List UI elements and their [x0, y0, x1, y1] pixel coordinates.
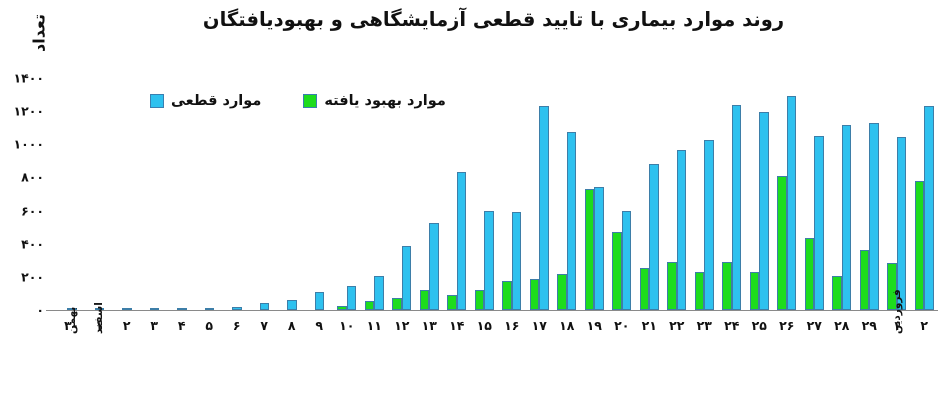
bar-recovered[interactable] [502, 281, 512, 310]
bar-recovered[interactable] [612, 232, 622, 310]
x-tick-label: ۲۵ [752, 318, 767, 333]
bar-confirmed[interactable] [205, 308, 215, 310]
bar-confirmed[interactable] [512, 212, 522, 310]
bar-confirmed[interactable] [677, 150, 687, 310]
x-tick-label: ۱۸ [559, 318, 574, 333]
bar-recovered[interactable] [392, 298, 402, 310]
bar-confirmed[interactable] [594, 187, 604, 310]
y-tick-label: ۴۰۰ [0, 236, 44, 251]
bar-confirmed[interactable] [622, 211, 632, 310]
bar-confirmed[interactable] [260, 303, 270, 310]
bar-confirmed[interactable] [759, 112, 769, 310]
y-tick-label: ۲۰۰ [0, 269, 44, 284]
bar-confirmed[interactable] [567, 132, 577, 310]
y-axis-tick-labels: ۱۴۰۰۱۲۰۰۱۰۰۰۸۰۰۶۰۰۴۰۰۲۰۰۰ [0, 0, 58, 415]
bar-recovered[interactable] [475, 290, 485, 310]
bar-confirmed[interactable] [287, 300, 297, 310]
bar-group [168, 78, 196, 310]
y-tick-label: ۱۲۰۰ [0, 104, 44, 119]
bar-group [636, 78, 664, 310]
bar-recovered[interactable] [832, 276, 842, 310]
bar-confirmed[interactable] [897, 137, 907, 310]
bar-confirmed[interactable] [122, 308, 132, 310]
x-month-label: بهمن [66, 307, 78, 334]
x-tick-label: ۱۳ [422, 318, 437, 333]
bar-confirmed[interactable] [869, 123, 879, 310]
bar-confirmed[interactable] [924, 106, 934, 310]
bar-recovered[interactable] [585, 189, 595, 310]
bar-group [883, 78, 911, 310]
bar-confirmed[interactable] [539, 106, 549, 310]
x-tick-label: ۷ [260, 318, 268, 333]
bar-recovered[interactable] [777, 176, 787, 310]
x-tick-label: ۲۴ [724, 318, 739, 333]
y-tick-label: ۰ [0, 303, 44, 318]
bar-recovered[interactable] [557, 274, 567, 310]
bar-group [58, 78, 86, 310]
y-tick-label: ۸۰۰ [0, 170, 44, 185]
bar-confirmed[interactable] [347, 286, 357, 310]
bar-group [828, 78, 856, 310]
bar-group [388, 78, 416, 310]
bar-recovered[interactable] [530, 279, 540, 310]
bar-confirmed[interactable] [649, 164, 659, 310]
bar-recovered[interactable] [337, 306, 347, 310]
bar-recovered[interactable] [447, 295, 457, 310]
bar-group [416, 78, 444, 310]
bar-group [251, 78, 279, 310]
bar-group [86, 78, 114, 310]
bar-group [691, 78, 719, 310]
bar-recovered[interactable] [667, 262, 677, 310]
x-tick-label: ۱۵ [477, 318, 492, 333]
bar-confirmed[interactable] [402, 246, 412, 310]
bar-confirmed[interactable] [484, 211, 494, 310]
bar-confirmed[interactable] [814, 136, 824, 310]
x-tick-label: ۱۶ [504, 318, 519, 333]
bar-confirmed[interactable] [429, 223, 439, 310]
bar-group [223, 78, 251, 310]
bar-confirmed[interactable] [232, 307, 242, 310]
bar-group [471, 78, 499, 310]
bar-group [856, 78, 884, 310]
bar-group [581, 78, 609, 310]
x-tick-label: ۲۳ [697, 318, 712, 333]
bar-group [801, 78, 829, 310]
x-tick-label: ۵ [205, 318, 213, 333]
bar-confirmed[interactable] [787, 96, 797, 310]
bar-group [498, 78, 526, 310]
bar-group [663, 78, 691, 310]
bar-group [746, 78, 774, 310]
x-tick-label: ۲۹ [862, 318, 877, 333]
x-tick-label: ۱۰ [339, 318, 354, 333]
bar-recovered[interactable] [750, 272, 760, 310]
x-tick-label: ۱۴ [449, 318, 464, 333]
x-month-label: فروردین [891, 289, 903, 334]
bar-confirmed[interactable] [374, 276, 384, 310]
bar-group [113, 78, 141, 310]
x-tick-label: ۲ [920, 318, 928, 333]
x-tick-label: ۱۱ [367, 318, 382, 333]
bar-confirmed[interactable] [315, 292, 325, 310]
x-tick-label: ۲۲ [669, 318, 684, 333]
chart-root: روند موارد بیماری با تایید قطعی آزمایشگا… [0, 0, 947, 415]
plot-area [58, 78, 938, 310]
bar-group [773, 78, 801, 310]
bar-confirmed[interactable] [704, 140, 714, 310]
bar-recovered[interactable] [695, 272, 705, 310]
x-tick-label: ۴ [178, 318, 186, 333]
bar-confirmed[interactable] [150, 308, 160, 310]
bar-recovered[interactable] [420, 290, 430, 310]
x-tick-label: ۱۷ [532, 318, 547, 333]
x-axis-month-labels: بهمناسفندفروردین [58, 334, 938, 404]
bar-confirmed[interactable] [732, 105, 742, 310]
bar-recovered[interactable] [640, 268, 650, 310]
bar-group [278, 78, 306, 310]
x-tick-label: ۲۸ [834, 318, 849, 333]
y-tick-label: ۱۰۰۰ [0, 137, 44, 152]
bar-recovered[interactable] [860, 250, 870, 310]
x-tick-label: ۲۷ [807, 318, 822, 333]
bar-group [718, 78, 746, 310]
bar-confirmed[interactable] [842, 125, 852, 310]
bar-confirmed[interactable] [457, 172, 467, 310]
chart-title: روند موارد بیماری با تایید قطعی آزمایشگا… [0, 8, 947, 31]
bar-group [196, 78, 224, 310]
x-tick-label: ۲۶ [779, 318, 794, 333]
x-month-label: اسفند [93, 302, 105, 334]
bar-group [553, 78, 581, 310]
x-tick-label: ۲ [123, 318, 131, 333]
x-tick-label: ۹ [315, 318, 323, 333]
x-tick-label: ۳ [150, 318, 158, 333]
x-tick-label: ۲۱ [642, 318, 657, 333]
bar-group [443, 78, 471, 310]
y-tick-label: ۶۰۰ [0, 203, 44, 218]
bar-recovered[interactable] [365, 301, 375, 310]
x-tick-label: ۲۰ [614, 318, 629, 333]
bar-recovered[interactable] [915, 181, 925, 310]
y-tick-label: ۱۴۰۰ [0, 71, 44, 86]
x-tick-label: ۶ [233, 318, 241, 333]
bar-group [141, 78, 169, 310]
bar-group [911, 78, 939, 310]
bar-group [526, 78, 554, 310]
x-tick-label: ۱۹ [587, 318, 602, 333]
x-tick-label: ۸ [288, 318, 296, 333]
bar-recovered[interactable] [722, 262, 732, 310]
bar-recovered[interactable] [805, 238, 815, 310]
bar-group [306, 78, 334, 310]
bar-confirmed[interactable] [177, 308, 187, 310]
bar-group [361, 78, 389, 310]
bar-group [608, 78, 636, 310]
x-tick-label: ۱۲ [394, 318, 409, 333]
bar-group [333, 78, 361, 310]
